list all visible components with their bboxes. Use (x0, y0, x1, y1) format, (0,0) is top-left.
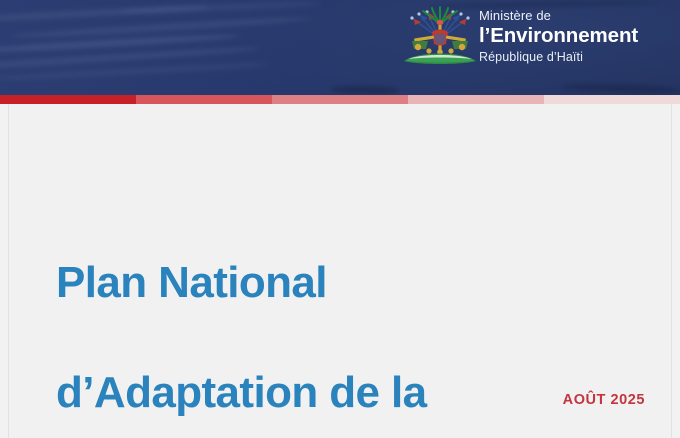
ministry-line-3: République d’Haïti (479, 50, 674, 64)
ministry-line-1: Ministère de (479, 9, 674, 24)
header-band: Ministère de l’Environnement République … (0, 0, 680, 95)
ministry-line-2: l’Environnement (479, 25, 674, 48)
cover-page: Ministère de l’Environnement République … (0, 0, 680, 438)
stripe-segment-5 (544, 95, 680, 104)
page-title: Plan National d’Adaptation de la Santé D… (56, 201, 646, 438)
stripe-segment-2 (136, 95, 272, 104)
haiti-coat-of-arms-icon (396, 5, 484, 73)
page-title-line-2: d’Adaptation de la (56, 366, 646, 421)
page-edge-right (671, 104, 672, 438)
accent-stripe (0, 95, 680, 104)
page-edge-left (8, 104, 9, 438)
page-title-line-1: Plan National (56, 256, 646, 311)
stripe-segment-4 (408, 95, 544, 104)
stripe-segment-1 (0, 95, 136, 104)
ministry-lockup: Ministère de l’Environnement République … (479, 9, 674, 64)
stripe-segment-3 (272, 95, 408, 104)
publication-date: AOÛT 2025 (563, 392, 645, 408)
